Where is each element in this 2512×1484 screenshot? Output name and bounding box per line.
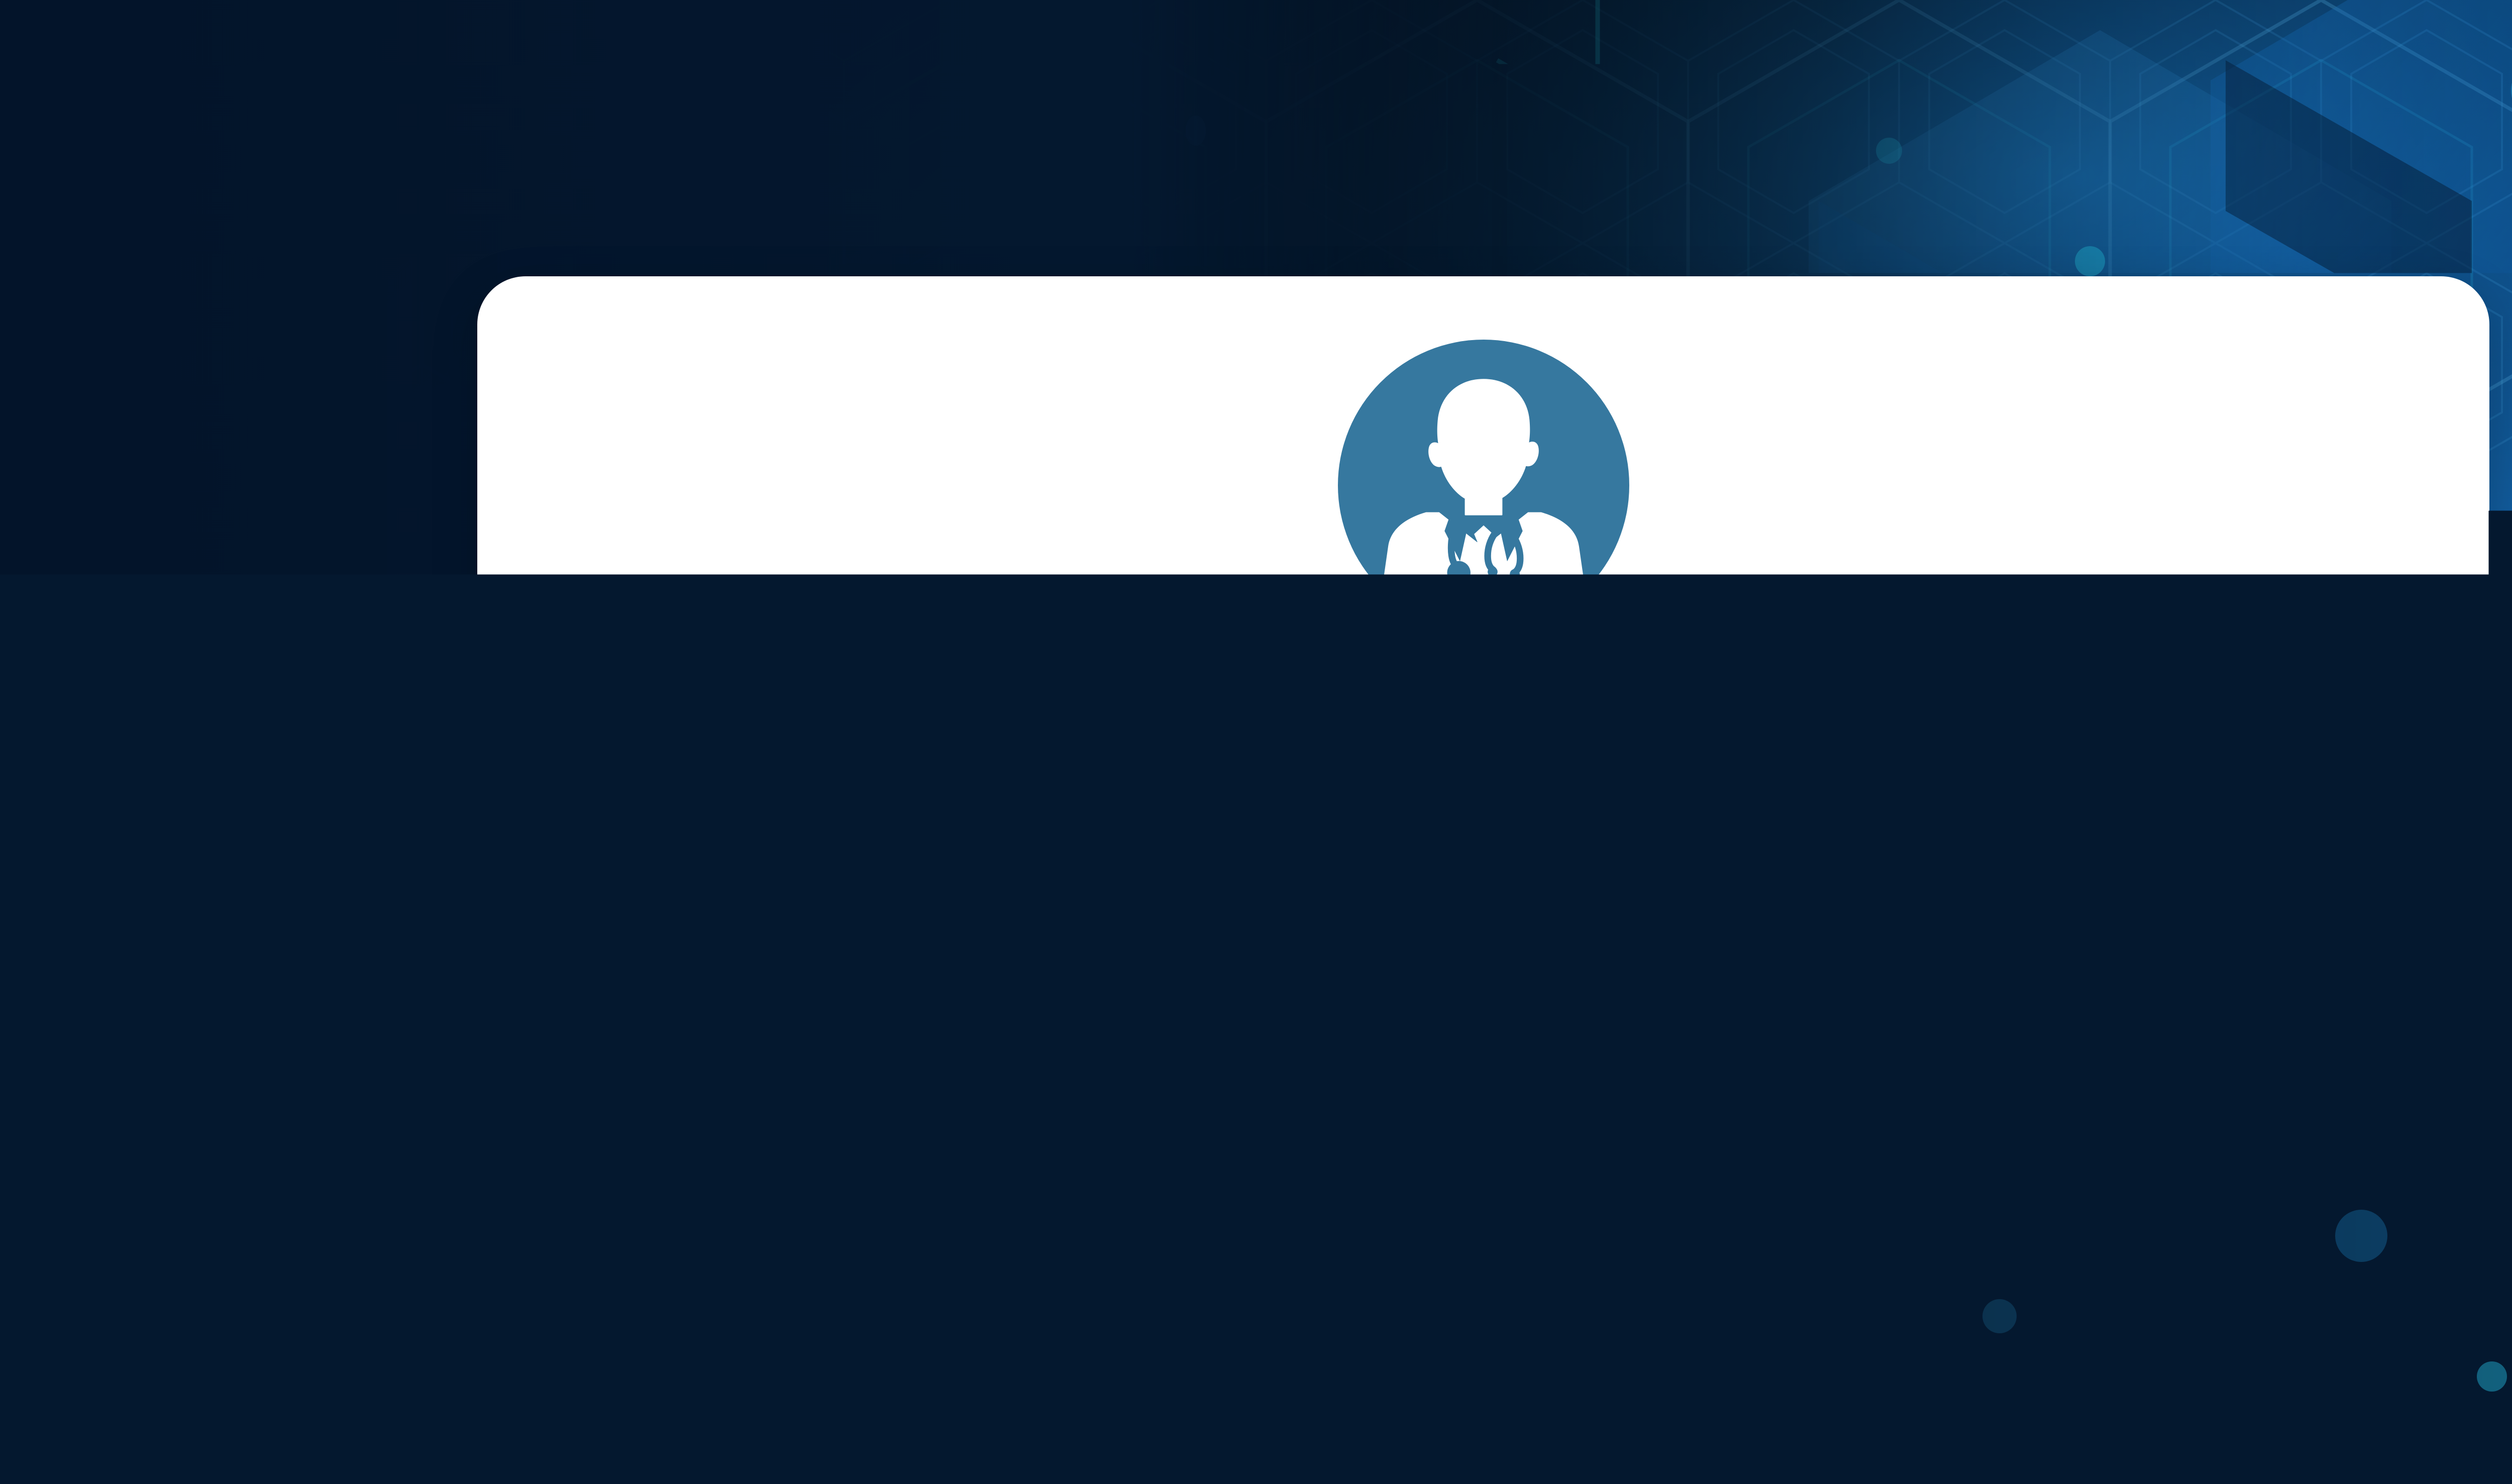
doctor-avatar-icon	[1338, 340, 1629, 631]
card-subtitle: Senior MD Pathologist & Radiologist with…	[973, 733, 1994, 908]
subtitle-line-2: with 30+ years Experience.	[973, 831, 1994, 908]
doctor-promo-banner: Experienced Doctors Senior MD Pathologis…	[0, 0, 2512, 1484]
stethoscope-chestpiece	[1447, 561, 1470, 584]
subtitle-line-1: Senior MD Pathologist & Radiologist	[973, 754, 1994, 831]
feature-card: Experienced Doctors Senior MD Pathologis…	[477, 276, 2489, 1121]
page-title: Experienced Doctors	[1091, 631, 1876, 733]
